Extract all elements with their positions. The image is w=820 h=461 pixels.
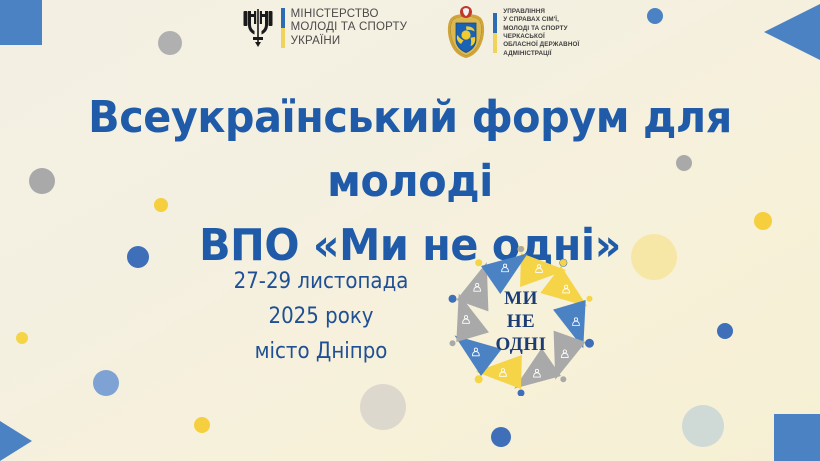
department-line-6: адміністрації [503,50,579,58]
title-line-1: Всеукраїнський форум для молоді [88,92,732,207]
department-line-5: обласної державної [503,41,579,49]
flag-divider-bar [493,13,497,53]
page-title: Всеукраїнський форум для молоді ВПО «Ми … [25,86,796,278]
emblem-orbit-dot [585,339,594,348]
department-line-2: у справах сім'ї, [503,16,579,24]
blue-dot [93,370,119,396]
pale-blue-circle [682,405,724,447]
event-details: 27-29 листопада 2025 року місто Дніпро [209,264,434,369]
event-dates: 27-29 листопада [209,264,434,299]
flag-divider-bar [281,8,285,48]
ministry-logo-text: Міністерство молоді та спорту України [291,8,408,49]
blue-square-bottom-right [774,414,820,461]
forum-poster: Міністерство молоді та спорту України [0,0,820,461]
blue-dot [491,427,511,447]
ukraine-trident-icon [241,6,275,50]
department-line-1: Управління [503,8,579,16]
mi-ne-odni-emblem: МИ НЕ ОДНІ [446,246,596,396]
emblem-orbit-dot [449,295,457,303]
emblem-orbit-dot [560,259,567,266]
event-city: місто Дніпро [209,334,434,369]
blue-dot [717,323,733,339]
emblem-orbit-dot [450,340,456,346]
emblem-orbit-dot [475,259,482,266]
yellow-dot [16,332,28,344]
emblem-orbit-dot [586,296,592,302]
emblem-orbit-dot [560,376,566,382]
blue-triangle-bottom-left [0,421,32,461]
yellow-dot [194,417,210,433]
emblem-orbit-dot [518,246,524,252]
ministry-line-3: України [291,35,408,49]
emblem-orbit-dot [475,375,483,383]
ministry-line-1: Міністерство [291,8,408,22]
cherkasy-coat-of-arms-icon [445,6,487,60]
header-logos: Міністерство молоді та спорту України [0,6,820,60]
department-logo: Управління у справах сім'ї, молоді та сп… [445,6,579,60]
pale-grey-circle [360,384,406,430]
ministry-line-2: молоді та спорту [291,21,408,35]
ministry-logo: Міністерство молоді та спорту України [241,6,408,50]
emblem-orbit-dot [518,390,525,397]
event-year: 2025 року [209,299,434,334]
department-logo-text: Управління у справах сім'ї, молоді та сп… [503,8,579,58]
department-line-3: молоді та спорту [503,25,579,33]
